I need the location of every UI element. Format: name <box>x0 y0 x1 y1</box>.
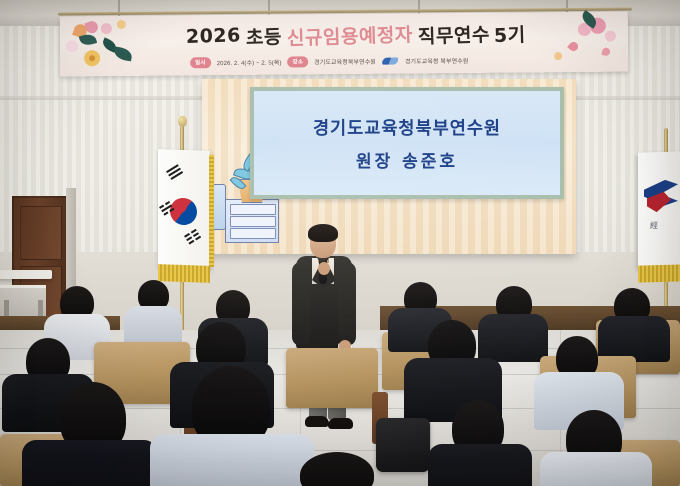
event-banner: 2026 초등 신규임용예정자 직무연수 5기 일시 2026. 2. 4(수)… <box>60 12 629 77</box>
drawer-cabinet-illustration <box>225 199 279 243</box>
flag-fringe <box>158 264 210 283</box>
banner-title-group: 신규임용예정자 <box>286 20 413 51</box>
door-panel <box>20 206 62 260</box>
flower-petal-icon <box>601 47 610 56</box>
flower-center-icon <box>89 55 95 61</box>
slide-textbox: 경기도교육청북부연수원 원장 송준호 <box>250 87 564 199</box>
presenter-shoe <box>305 416 329 427</box>
banner-date-value: 2026. 2. 4(수) ~ 2. 5(목) <box>217 57 282 67</box>
presenter-arm <box>338 262 356 346</box>
attendee-body <box>150 434 314 486</box>
drawer <box>230 204 276 215</box>
banner-title-cohort: 5기 <box>494 20 526 48</box>
presenter-shoe <box>328 418 353 429</box>
backpack <box>376 418 430 472</box>
institution-flag-mark: 經 <box>650 220 658 231</box>
flower-icon <box>554 52 562 60</box>
slide-line-organization: 경기도교육청북부연수원 <box>313 115 501 140</box>
rolled-paper-illustration <box>212 184 226 230</box>
flower-icon <box>66 40 78 52</box>
attendee-body <box>540 452 652 486</box>
attendee-body <box>22 440 158 486</box>
banner-place-value: 경기도교육청북부연수원 <box>314 56 376 66</box>
flag-fringe <box>638 264 680 282</box>
banner-title-program: 직무연수 <box>417 19 490 48</box>
banner-title-year: 2026 <box>185 24 241 48</box>
banner-title: 2026 초등 신규임용예정자 직무연수 5기 <box>156 18 556 51</box>
slide-line-director: 원장 송준호 <box>356 147 458 172</box>
presenter-hand <box>318 262 330 275</box>
seat[interactable] <box>286 348 378 408</box>
banner-subtitle: 일시 2026. 2. 4(수) ~ 2. 5(목) 장소 경기도교육청북부연수… <box>190 52 530 69</box>
banner-date-label: 일시 <box>190 57 211 68</box>
organization-logo-icon <box>382 57 398 64</box>
attendee-body <box>478 314 548 362</box>
projector-screen: 경기도교육청북부연수원 원장 송준호 <box>202 79 576 254</box>
flag-fringe <box>209 155 214 267</box>
attendee-body <box>428 444 532 486</box>
presenter-arm <box>292 262 310 346</box>
institution-flag: 經 <box>638 151 680 268</box>
banner-host-value: 경기도교육청 북부연수원 <box>405 55 469 65</box>
av-cart-top <box>0 270 52 279</box>
auditorium-photo: 2026 초등 신규임용예정자 직무연수 5기 일시 2026. 2. 4(수)… <box>0 0 680 486</box>
flower-icon <box>101 23 112 34</box>
presenter-hair <box>308 224 338 242</box>
flower-icon <box>605 31 616 42</box>
flower-icon <box>117 20 126 29</box>
leaf-icon <box>113 47 133 62</box>
korean-national-flag <box>158 149 210 269</box>
banner-place-label: 장소 <box>288 56 309 67</box>
drawer <box>230 216 276 227</box>
flower-petal-icon <box>567 40 580 53</box>
banner-title-level: 초등 <box>245 22 282 50</box>
drawer <box>230 228 276 239</box>
